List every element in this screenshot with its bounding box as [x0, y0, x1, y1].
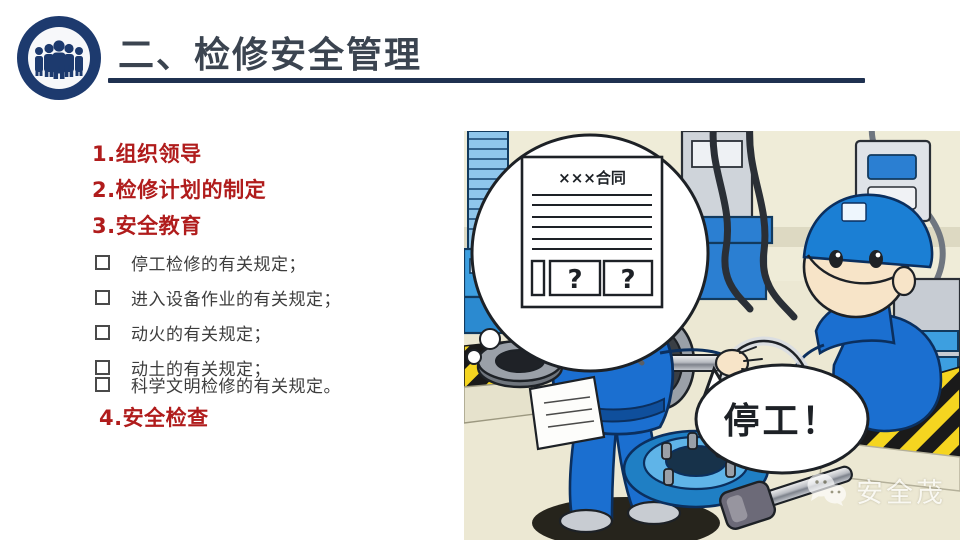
list-item-label: 动火的有关规定； — [131, 320, 271, 345]
list-item-label: 进入设备作业的有关规定； — [131, 285, 341, 310]
maintenance-safety-cartoon: ×××合同 ? ? 停工！ — [464, 131, 960, 540]
slide-header: 二、检修安全管理 — [0, 0, 960, 110]
list-item-3: 3.安全教育 — [92, 210, 202, 240]
header-badge — [17, 16, 101, 100]
page-title: 二、检修安全管理 — [118, 26, 422, 78]
square-bullet-icon — [95, 255, 110, 270]
speech-bubble-text: 停工！ — [723, 401, 840, 442]
title-underline — [108, 78, 865, 83]
square-bullet-icon — [95, 325, 110, 340]
content-list: 1.组织领导 2.检修计划的制定 3.安全教育 停工检修的有关规定； 进入设备作… — [0, 110, 470, 540]
list-item: 进入设备作业的有关规定； — [95, 285, 341, 310]
list-item: 动火的有关规定； — [95, 320, 271, 345]
list-item-label: 停工检修的有关规定； — [131, 250, 306, 275]
list-item: 停工检修的有关规定； — [95, 250, 306, 275]
square-bullet-icon — [95, 377, 110, 392]
list-item-label: 科学文明检修的有关规定。 — [131, 372, 341, 397]
slide-root: 二、检修安全管理 1.组织领导 2.检修计划的制定 3.安全教育 停工检修的有关… — [0, 0, 960, 540]
list-item: 科学文明检修的有关规定。 — [95, 372, 341, 397]
square-bullet-icon — [95, 290, 110, 305]
list-item-4: 4.安全检查 — [99, 402, 209, 432]
svg-text:?: ? — [567, 265, 582, 295]
list-item-2: 2.检修计划的制定 — [92, 174, 266, 204]
list-item-1: 1.组织领导 — [92, 138, 202, 168]
thought-doc-title: ×××合同 — [558, 169, 626, 187]
svg-text:?: ? — [620, 265, 635, 295]
people-group-icon — [28, 27, 90, 89]
